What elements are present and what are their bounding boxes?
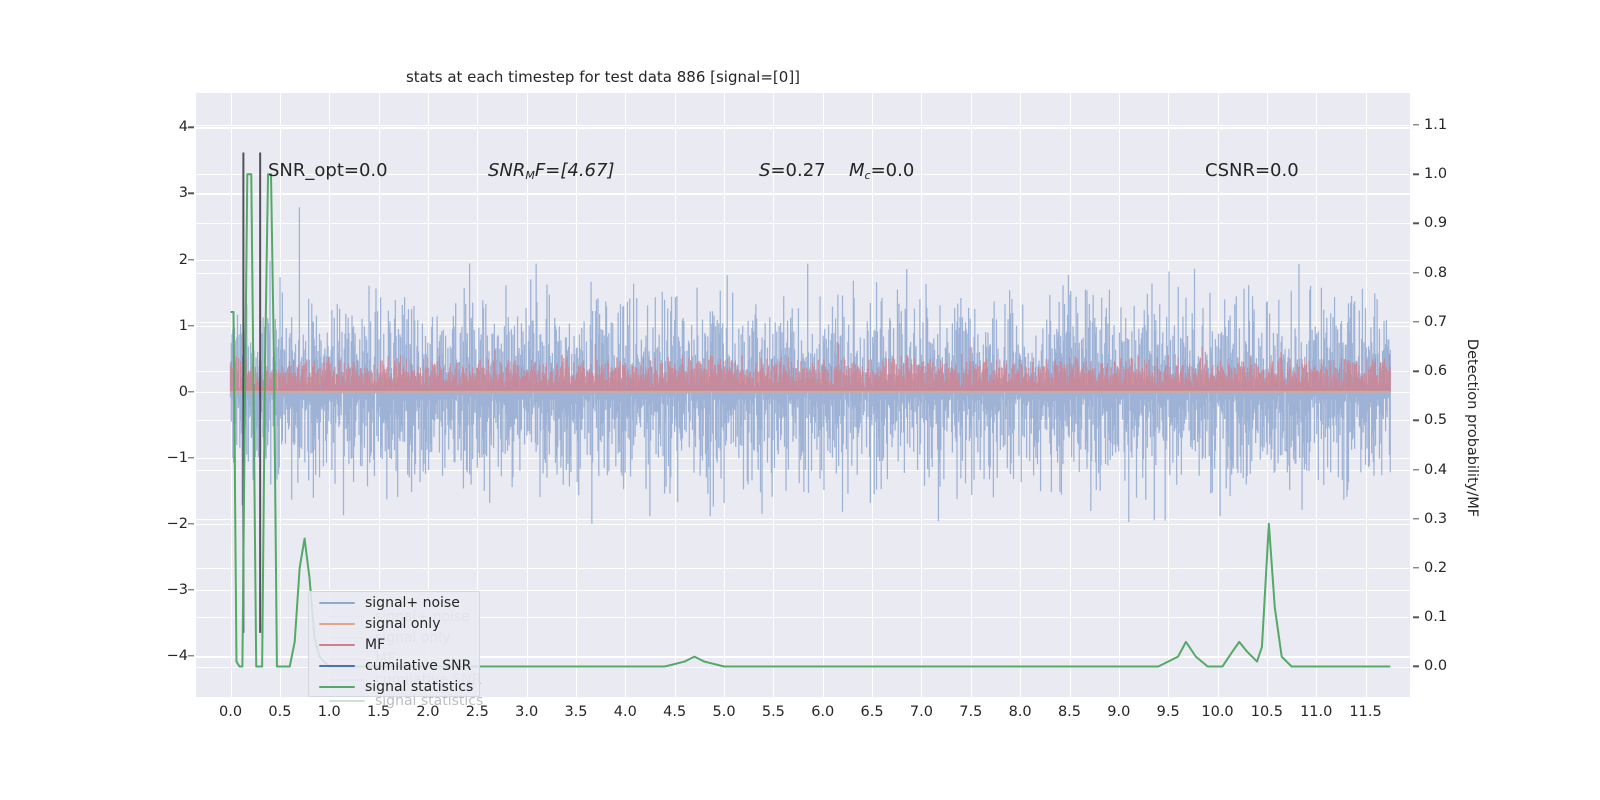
y-axis-left-tick-mark	[188, 655, 194, 656]
legend-label: signal statistics	[365, 679, 473, 695]
legend-label: MF	[365, 637, 385, 653]
legend-item[interactable]: MF	[309, 634, 479, 655]
signal-plus-noise-trace	[231, 207, 1391, 524]
y-axis-left-tick-label: 2	[0, 252, 188, 268]
y-axis-right-tick-label: 0.6	[1424, 363, 1544, 379]
y-axis-right-tick-label: 0.8	[1424, 265, 1544, 281]
y-axis-right-tick-mark	[1413, 518, 1419, 519]
y-axis-right-tick-label: 0.3	[1424, 511, 1544, 527]
legend-swatch	[329, 700, 365, 702]
y-axis-right-tick-label: 0.0	[1424, 658, 1544, 674]
annotation-snr-mf: SNRMF=[4.67]	[488, 160, 614, 182]
y-axis-right-tick-mark	[1413, 370, 1419, 371]
y-axis-left-tick-mark	[188, 589, 194, 590]
y-axis-right-tick-label: 1.0	[1424, 166, 1544, 182]
legend-label: signal only	[365, 616, 440, 632]
y-axis-right-tick-mark	[1413, 321, 1419, 322]
y-axis-left-tick-mark	[188, 457, 194, 458]
annotation-snr-opt: SNR_opt=0.0	[268, 160, 388, 181]
y-axis-right-tick-mark	[1413, 124, 1419, 125]
annotation-chirp-mass: Mc=0.0	[849, 160, 914, 182]
y-axis-left-tick-label: 1	[0, 318, 188, 334]
y-axis-left-tick-label: −2	[0, 516, 188, 532]
legend-item[interactable]: signal statistics	[309, 677, 479, 698]
annotation-s-stat: S=0.27	[759, 160, 826, 181]
y-axis-right-tick-label: 1.1	[1424, 117, 1544, 133]
y-axis-left-tick-mark	[188, 127, 194, 128]
y-axis-right-tick-label: 0.4	[1424, 462, 1544, 478]
y-axis-left-tick-mark	[188, 523, 194, 524]
y-axis-right-tick-mark	[1413, 174, 1419, 175]
legend-label: signal+ noise	[365, 595, 460, 611]
y-axis-left-tick-label: 3	[0, 185, 188, 201]
legend-swatch	[319, 623, 355, 625]
annotation-csnr: CSNR=0.0	[1205, 160, 1299, 181]
y-axis-left-tick-mark	[188, 391, 194, 392]
y-axis-right-tick-label: 0.7	[1424, 314, 1544, 330]
x-axis-tick-label: 11.5	[1326, 704, 1406, 720]
figure-canvas: stats at each timestep for test data 886…	[0, 0, 1600, 800]
legend-item[interactable]: cumilative SNR	[309, 656, 479, 677]
y-axis-left-tick-mark	[188, 259, 194, 260]
y-axis-right-tick-mark	[1413, 420, 1419, 421]
y-axis-right-tick-mark	[1413, 617, 1419, 618]
legend-item[interactable]: signal+ noise	[309, 592, 479, 613]
y-axis-right-tick-label: 0.2	[1424, 560, 1544, 576]
y-axis-left-tick-label: 4	[0, 119, 188, 135]
legend-swatch	[319, 644, 355, 646]
legend-swatch	[319, 665, 355, 667]
legend-swatch	[319, 602, 355, 604]
y-axis-right-tick-mark	[1413, 272, 1419, 273]
y-axis-right-tick-mark	[1413, 567, 1419, 568]
y-axis-left-tick-label: −4	[0, 648, 188, 664]
y-axis-right-tick-label: 0.9	[1424, 215, 1544, 231]
y-axis-left-tick-label: −3	[0, 582, 188, 598]
chart-title-text: stats at each timestep for test data 886…	[406, 68, 800, 86]
legend[interactable]: signal+ noisesignal onlyMFcumilative SNR…	[308, 591, 480, 697]
y-axis-left-tick-mark	[188, 193, 194, 194]
y-axis-right-tick-mark	[1413, 469, 1419, 470]
y-axis-right-tick-label: 0.5	[1424, 412, 1544, 428]
chart-title: stats at each timestep for test data 886…	[0, 68, 1600, 86]
legend-label: cumilative SNR	[365, 658, 471, 674]
y-axis-left-tick-label: −1	[0, 450, 188, 466]
legend-swatch	[319, 686, 355, 688]
y-axis-left-tick-label: 0	[0, 384, 188, 400]
y-axis-right-tick-mark	[1413, 666, 1419, 667]
y-axis-right-tick-mark	[1413, 223, 1419, 224]
legend-item[interactable]: signal only	[309, 613, 479, 634]
y-axis-right-tick-label: 0.1	[1424, 609, 1544, 625]
y-axis-left-tick-mark	[188, 325, 194, 326]
y-axis-right-label: Detection probability/MF	[1464, 218, 1480, 638]
